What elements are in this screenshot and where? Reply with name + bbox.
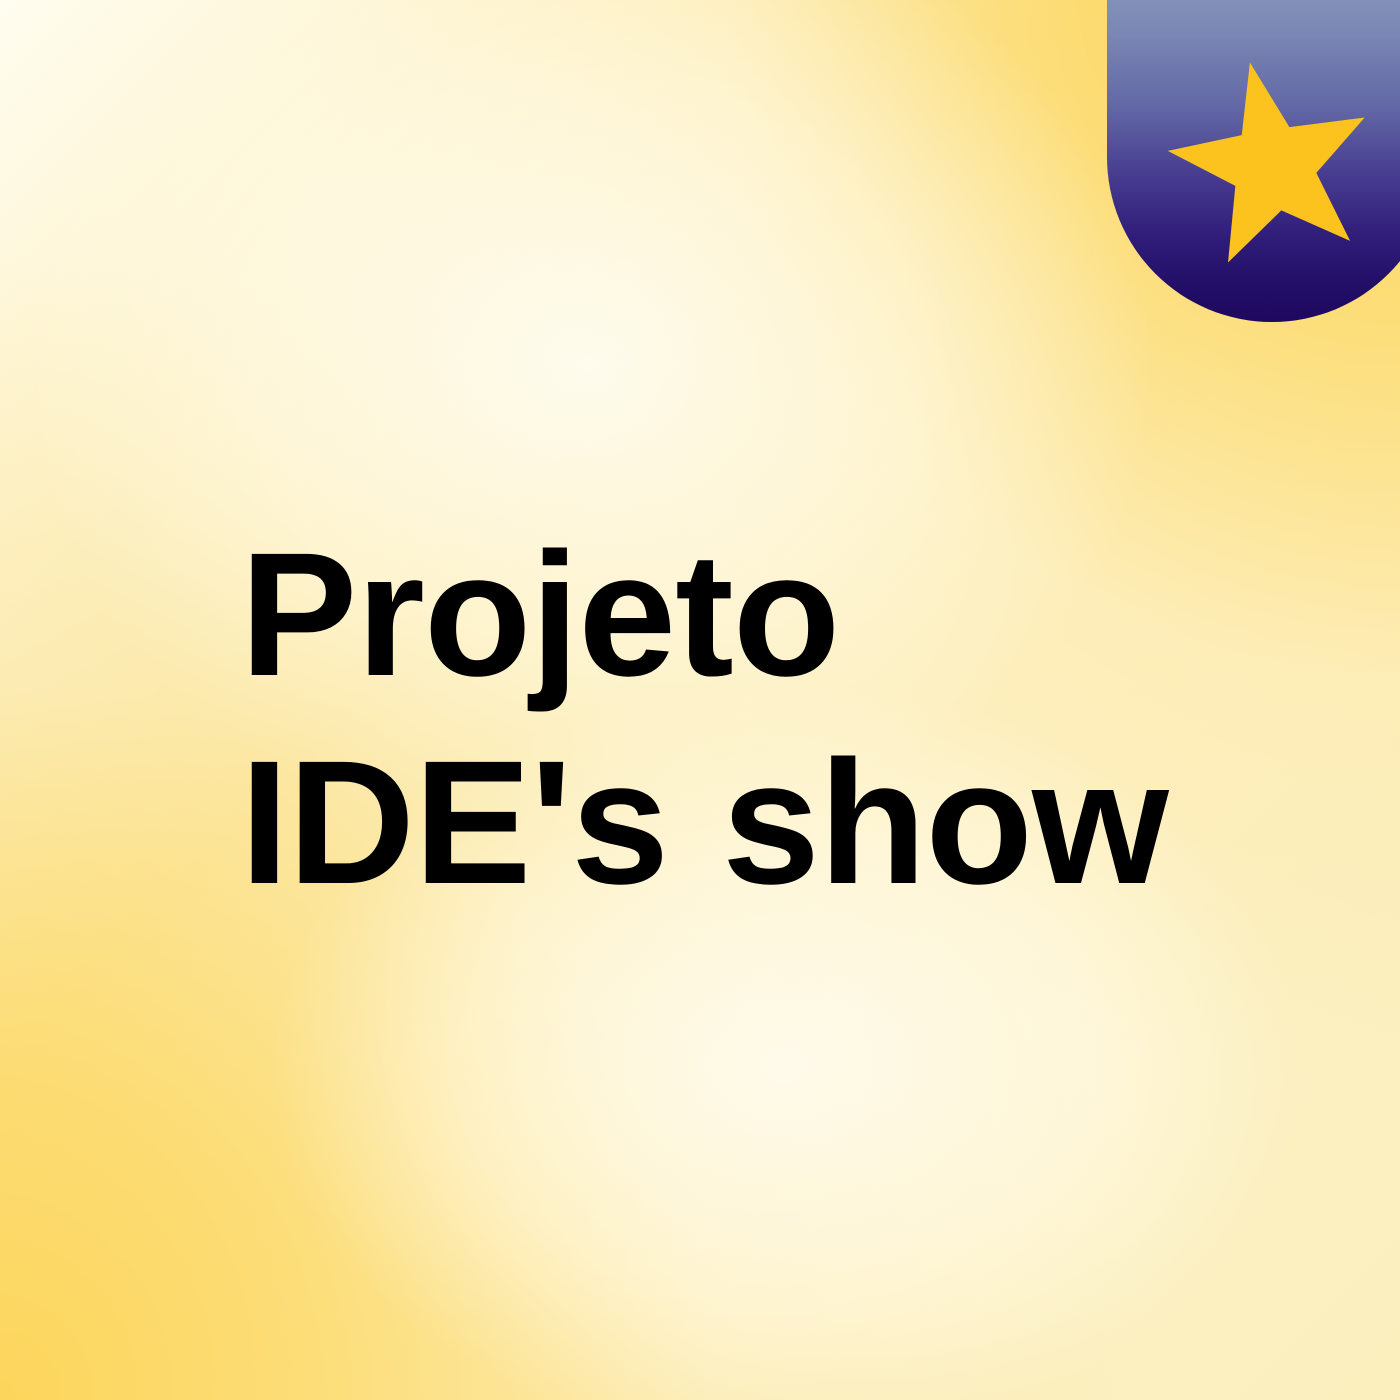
title-block: Projeto IDE's show <box>240 512 1180 927</box>
slide-canvas: Projeto IDE's show <box>0 0 1400 1400</box>
page-title: Projeto IDE's show <box>240 512 1180 927</box>
star-icon <box>1165 52 1375 262</box>
